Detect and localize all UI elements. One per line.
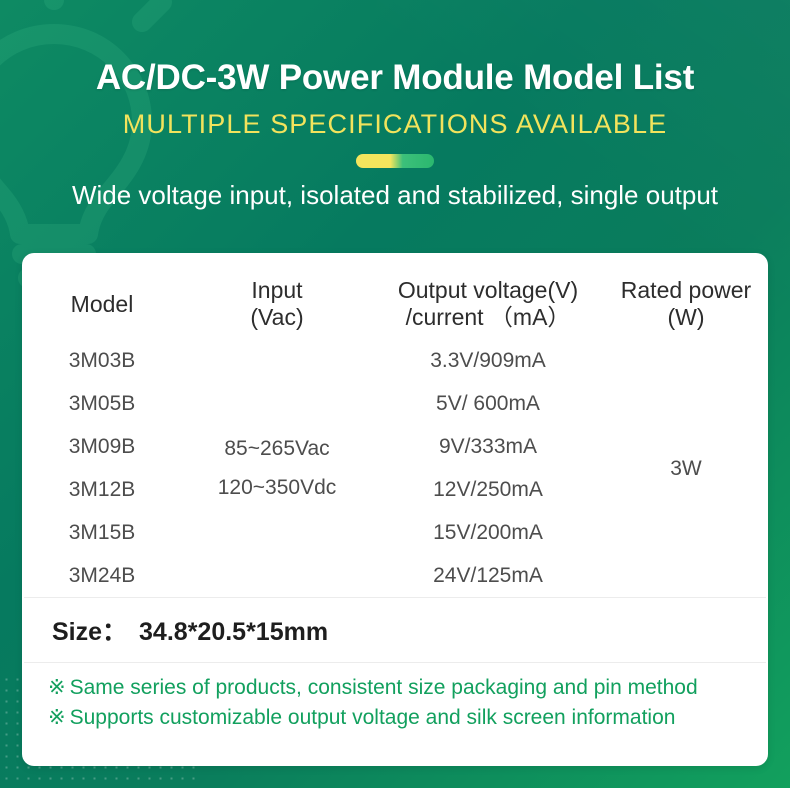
cell-output: 9V/333mA (372, 425, 604, 468)
column-header-output: Output voltage(V) /current （mA） (372, 253, 604, 339)
column-header-model: Model (22, 253, 182, 339)
cell-model: 3M05B (22, 382, 182, 425)
column-header-input-line2: (Vac) (182, 304, 372, 331)
header: AC/DC-3W Power Module Model List MULTIPL… (0, 0, 790, 211)
input-range-dc: 120~350Vdc (182, 475, 372, 500)
note-mark-icon: ※ (48, 706, 66, 729)
table-header: Model Input (Vac) Output voltage(V) /cur… (22, 253, 768, 339)
table-body: 3M03B 85~265Vac 120~350Vdc 3.3V/909mA 3W… (22, 339, 768, 597)
column-header-output-line2: /current （mA） (372, 304, 604, 331)
input-range-ac: 85~265Vac (182, 436, 372, 461)
pill-divider (356, 154, 434, 168)
column-header-model-label: Model (71, 291, 134, 317)
cell-output: 12V/250mA (372, 468, 604, 511)
note-mark-icon: ※ (48, 676, 66, 699)
table-row: 3M03B 85~265Vac 120~350Vdc 3.3V/909mA 3W (22, 339, 768, 382)
cell-model: 3M24B (22, 554, 182, 597)
size-label: Size： (52, 618, 127, 646)
note-text: Supports customizable output voltage and… (70, 706, 676, 729)
column-header-power-line1: Rated power (604, 277, 768, 304)
input-range-stack: 85~265Vac 120~350Vdc (182, 436, 372, 500)
note-text: Same series of products, consistent size… (70, 676, 698, 699)
column-header-output-line1: Output voltage(V) (372, 277, 604, 304)
cell-output: 3.3V/909mA (372, 339, 604, 382)
table-header-row: Model Input (Vac) Output voltage(V) /cur… (22, 253, 768, 339)
cell-model: 3M15B (22, 511, 182, 554)
cell-output: 15V/200mA (372, 511, 604, 554)
column-header-input: Input (Vac) (182, 253, 372, 339)
cell-output: 24V/125mA (372, 554, 604, 597)
cell-rated-power: 3W (604, 339, 768, 597)
note-item: ※Supports customizable output voltage an… (48, 703, 768, 733)
cell-output: 5V/ 600mA (372, 382, 604, 425)
column-header-power: Rated power (W) (604, 253, 768, 339)
cell-model: 3M09B (22, 425, 182, 468)
page-title: AC/DC-3W Power Module Model List (0, 58, 790, 98)
spec-table: Model Input (Vac) Output voltage(V) /cur… (22, 253, 768, 597)
size-row: Size：34.8*20.5*15mm (22, 598, 768, 662)
notes-section: ※Same series of products, consistent siz… (22, 663, 768, 733)
cell-input-range: 85~265Vac 120~350Vdc (182, 339, 372, 597)
spec-card: Model Input (Vac) Output voltage(V) /cur… (22, 253, 768, 766)
page-subtitle: MULTIPLE SPECIFICATIONS AVAILABLE (0, 110, 790, 140)
size-value: 34.8*20.5*15mm (139, 618, 328, 646)
column-header-input-line1: Input (182, 277, 372, 304)
note-item: ※Same series of products, consistent siz… (48, 673, 768, 703)
cell-model: 3M03B (22, 339, 182, 382)
column-header-power-line2: (W) (604, 304, 768, 331)
poster-root: AC/DC-3W Power Module Model List MULTIPL… (0, 0, 790, 788)
cell-model: 3M12B (22, 468, 182, 511)
page-tagline: Wide voltage input, isolated and stabili… (0, 181, 790, 211)
